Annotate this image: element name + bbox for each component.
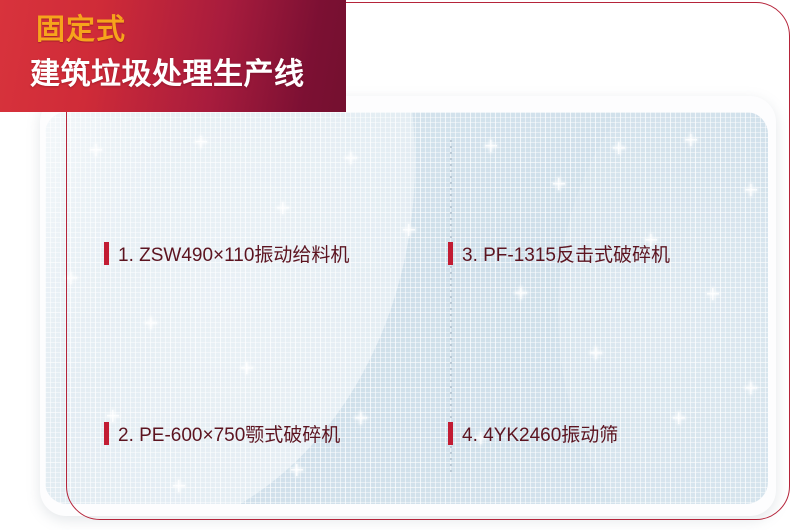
sparkle-icon [345,152,357,164]
sparkle-icon [355,412,367,424]
sparkle-icon [515,287,527,299]
sparkle-icon [277,202,289,214]
sparkle-icon [745,184,757,196]
label-accent-bar [104,422,109,445]
sparkle-icon [173,480,185,492]
item-label-2: 2. PE-600×750颚式破碎机 [104,420,340,447]
item-label-text: 1. ZSW490×110振动给料机 [118,240,349,267]
sparkle-icon [291,464,303,476]
sparkle-icon [673,412,685,424]
sparkle-icon [613,142,625,154]
sparkle-icon [145,317,157,329]
item-label-text: 4. 4YK2460振动筛 [462,420,618,447]
sparkle-icon [65,272,77,284]
sparkle-icon [685,134,697,146]
item-label-text: 2. PE-600×750颚式破碎机 [118,420,340,447]
sparkle-icon [485,140,497,152]
banner-title-line2: 建筑垃圾处理生产线 [30,57,305,93]
header-banner: 固定式 建筑垃圾处理生产线 [0,0,346,112]
label-accent-bar [448,242,453,265]
label-accent-bar [104,242,109,265]
sparkle-icon [195,136,207,148]
sparkle-icon [90,144,102,156]
sparkle-icon [403,224,415,236]
item-label-text: 3. PF-1315反击式破碎机 [462,240,670,267]
sparkle-icon [745,382,757,394]
sparkle-icon [590,347,602,359]
sparkle-icon [707,288,719,300]
banner-title-line1: 固定式 [36,13,126,47]
sparkle-icon [241,362,253,374]
production-line-infographic: 1. ZSW490×110振动给料机 [0,0,800,530]
item-label-4: 4. 4YK2460振动筛 [448,420,618,447]
item-label-3: 3. PF-1315反击式破碎机 [448,240,670,267]
sparkle-icon [553,178,565,190]
label-accent-bar [448,422,453,445]
item-label-1: 1. ZSW490×110振动给料机 [104,240,349,267]
